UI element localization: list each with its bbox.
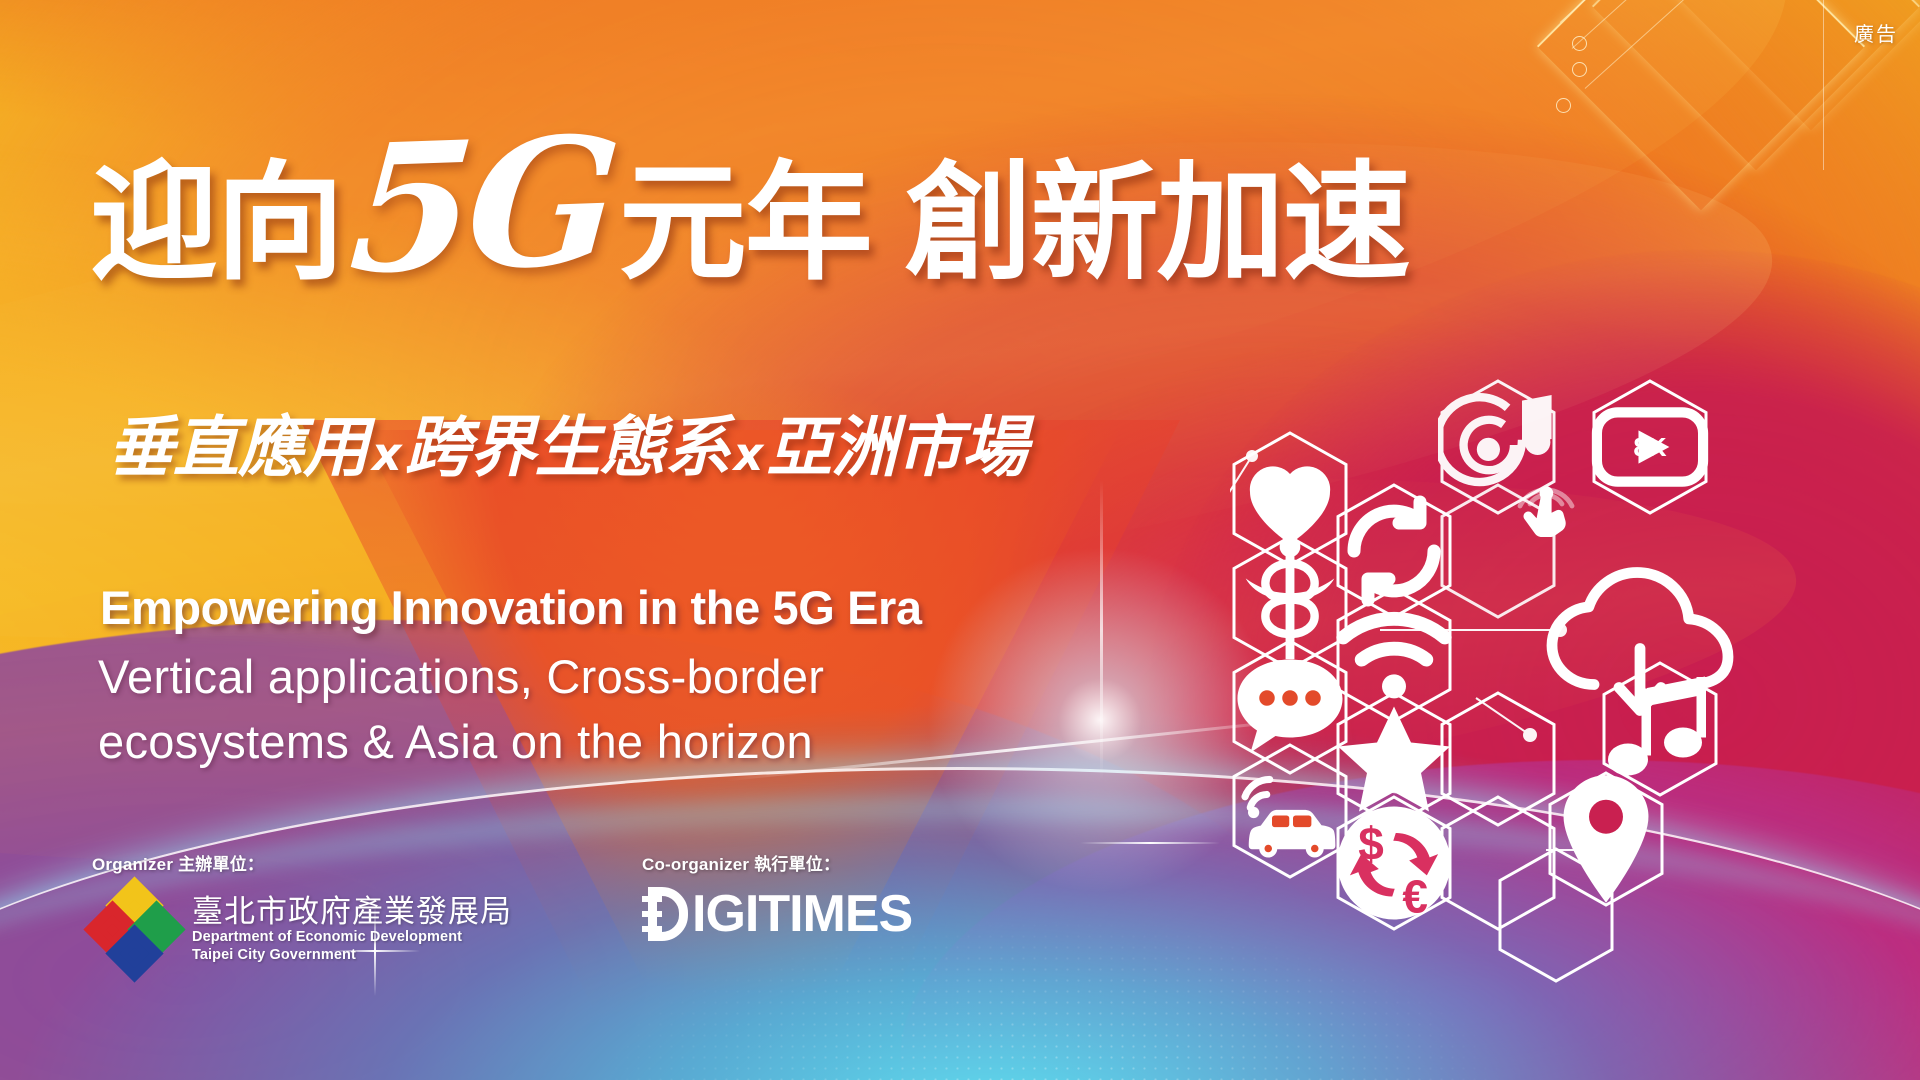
organizer-label-en: Organizer [92,855,173,874]
credits-section: Organizer 主辦單位： 臺北市政府產業發展局 Department of… [92,850,912,973]
organizer-row: 臺北市政府產業發展局 Department of Economic Develo… [92,887,512,973]
hex-currency-exchange: $ € [1334,794,1454,932]
organizer-label-cn: 主辦單位： [178,855,264,875]
organizer-name-en2: Taipei City Government [192,946,512,964]
hex-empty-1 [1438,482,1558,620]
co-organizer-label-cn: 執行單位： [754,855,840,875]
connected-car-icon [1230,742,1350,880]
english-body-line1: Vertical applications, Cross-border [98,645,824,710]
subtitle-sep1: x [368,427,405,481]
node-circle-1 [1572,36,1587,51]
co-organizer-block: Co-organizer 執行單位： IGITIMES [642,850,912,941]
digitimes-word-rest: IGI [692,885,758,943]
ad-label-rule [1823,0,1824,170]
subtitle-seg1: 垂直應用 [108,409,368,486]
hex-8k-video: 8K [1590,378,1710,516]
headline-part1: 迎向 [90,160,342,288]
light-flare-ray-vertical [1100,480,1103,780]
headline-part2: 元年 [619,160,871,288]
organizer-name-cn: 臺北市政府產業發展局 [192,896,512,929]
organizer-name-en1: Department of Economic Development [192,928,512,946]
subtitle: 垂直應用x跨界生態系x亞洲市場 [108,415,1026,481]
hex-empty-4 [1496,846,1616,984]
page-title: 迎向 5G 元年 創新加速 [90,118,1409,294]
organizer-block: Organizer 主辦單位： 臺北市政府產業發展局 Department of… [92,850,512,973]
node-circle-3 [1556,98,1571,113]
play-button-icon [1590,378,1710,516]
co-organizer-label-en: Co-organizer [642,855,749,874]
digitimes-word-rest2: TIMES [758,885,912,943]
co-organizer-label: Co-organizer 執行單位： [642,850,912,875]
organizer-name-block: 臺北市政府產業發展局 Department of Economic Develo… [192,896,512,965]
node-circle-2 [1572,62,1587,77]
digitimes-wordmark: IGITIMES [692,888,912,940]
english-body: Vertical applications, Cross-border ecos… [98,645,824,775]
hex-connected-car [1230,742,1350,880]
headline-brand-5g: 5G [345,114,619,299]
organizer-label: Organizer 主辦單位： [92,850,512,875]
currency-exchange-icon: $ € [1334,794,1454,932]
subtitle-seg2: 跨界生態系 [405,409,730,486]
english-headline: Empowering Innovation in the 5G Era [100,580,922,635]
subtitle-seg3: 亞洲市場 [766,409,1026,486]
digitimes-logo: IGITIMES [642,887,912,941]
taipei-city-government-logo-icon [92,887,178,973]
svg-text:€: € [1402,870,1428,922]
english-body-line2: ecosystems & Asia on the horizon [98,710,824,775]
hexagon-icon-cluster: $ € [1230,430,1920,1080]
digitimes-d-icon [642,887,688,941]
sparkle-h-2 [1080,842,1220,844]
headline-part3: 創新加速 [905,160,1409,288]
video-8k-glyph: 8K [1590,378,1710,516]
promotional-banner: 廣告 迎向 5G 元年 創新加速 垂直應用x跨界生態系x亞洲市場 Empower… [0,0,1920,1080]
ad-label: 廣告 [1854,18,1898,47]
subtitle-sep2: x [730,427,767,481]
